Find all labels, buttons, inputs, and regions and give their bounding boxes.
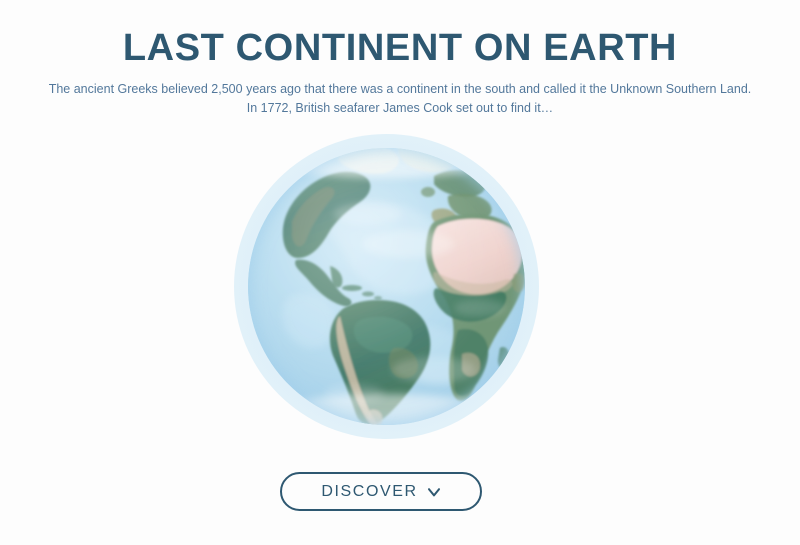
chevron-down-icon: [427, 485, 441, 499]
discover-button[interactable]: DISCOVER: [280, 472, 482, 511]
hero-subtitle: The ancient Greeks believed 2,500 years …: [49, 70, 752, 118]
earth-globe: [248, 148, 525, 425]
page-title: LAST CONTINENT ON EARTH: [123, 0, 677, 70]
discover-button-label: DISCOVER: [321, 484, 417, 500]
hero-section: LAST CONTINENT ON EARTH The ancient Gree…: [0, 0, 800, 545]
hero-subtitle-line-1: The ancient Greeks believed 2,500 years …: [49, 80, 752, 99]
hero-subtitle-line-2: In 1772, British seafarer James Cook set…: [49, 99, 752, 118]
globe-sphere: [248, 148, 525, 425]
